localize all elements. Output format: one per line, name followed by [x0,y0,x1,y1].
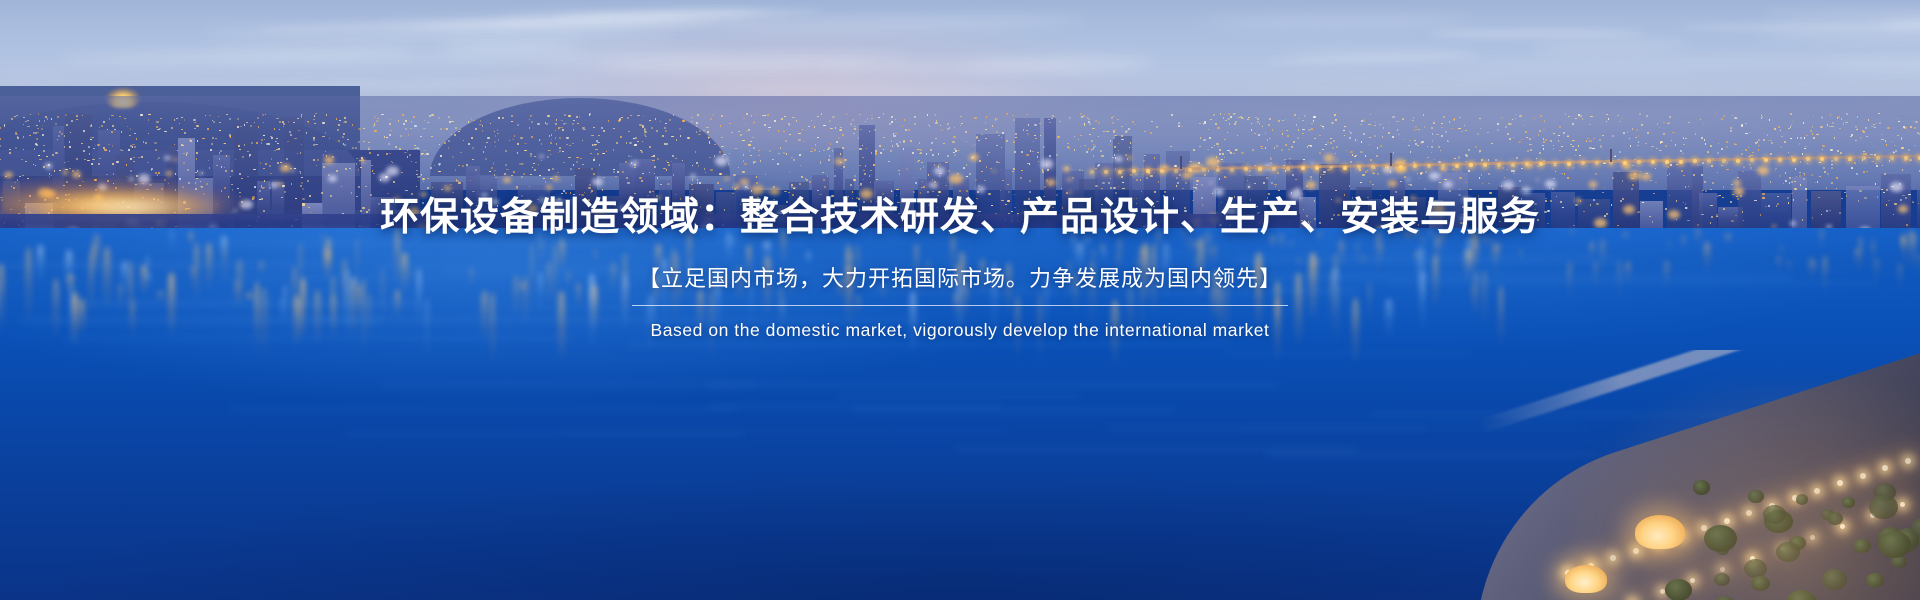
peninsula-ambient-glow [1570,380,1920,600]
bridge-deck [1090,155,1920,172]
bridge [1090,150,1920,190]
illuminated-peninsula [1360,350,1920,600]
hero-banner: 环保设备制造领域：整合技术研发、产品设计、生产、安装与服务 【立足国内市场，大力… [0,0,1920,600]
